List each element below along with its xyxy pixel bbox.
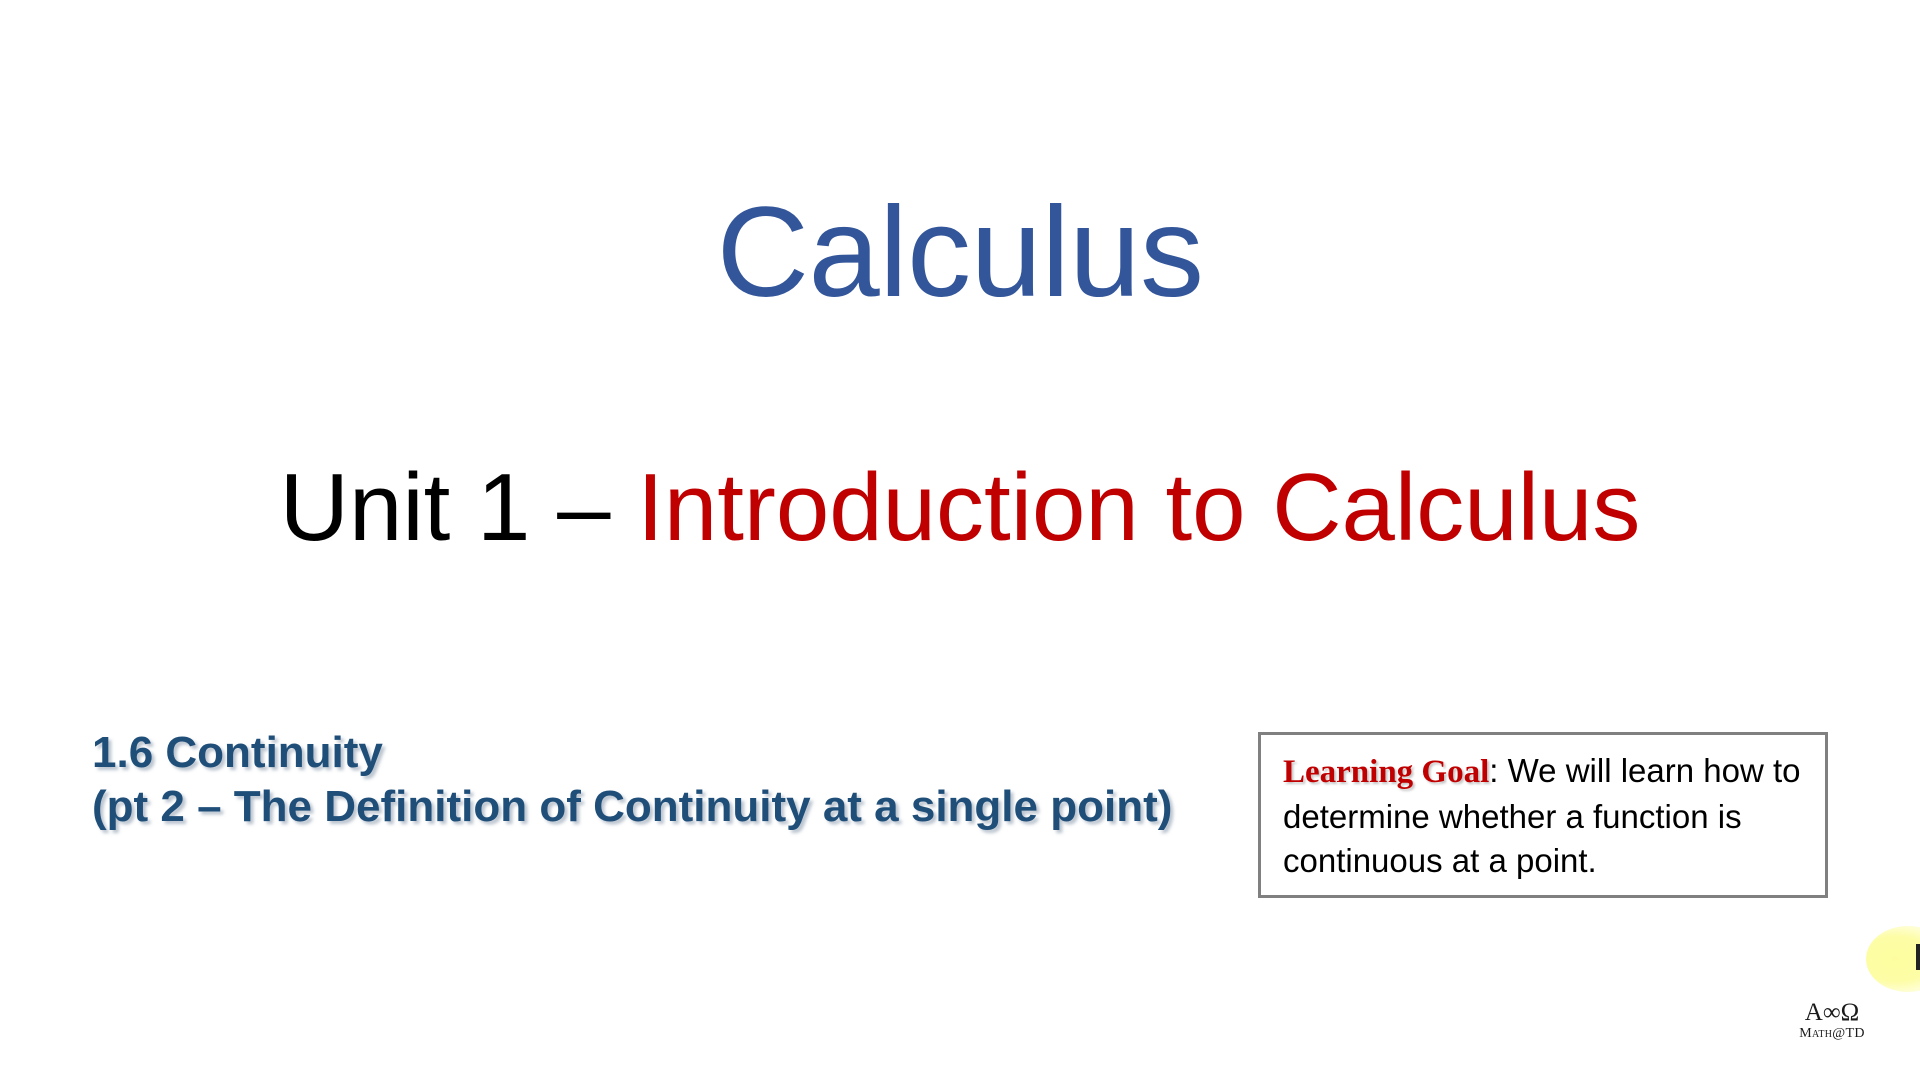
learning-goal-callout: Learning Goal: We will learn how to dete… [1258, 732, 1828, 898]
slide-subtitle: Unit 1 – Introduction to Calculus [0, 458, 1920, 559]
learning-goal-label: Learning Goal [1283, 754, 1489, 790]
brand-logo-symbols: A∞Ω [1784, 1000, 1880, 1025]
subtitle-unit-label: Unit 1 – [280, 454, 638, 561]
highlight-mark-glyph-icon [1916, 944, 1920, 970]
slide-canvas: Calculus Unit 1 – Introduction to Calcul… [0, 0, 1920, 1080]
page-title: Calculus [0, 186, 1920, 320]
section-heading-line-1: 1.6 Continuity [92, 726, 1182, 780]
brand-logo-name: Math@TD [1784, 1026, 1880, 1042]
subtitle-topic-label: Introduction to Calculus [637, 454, 1640, 561]
brand-logo: A∞Ω Math@TD [1784, 1000, 1880, 1042]
learning-goal-separator: : [1489, 752, 1507, 789]
learning-goal-text: Learning Goal: We will learn how to dete… [1283, 749, 1807, 883]
section-heading-line-2: (pt 2 – The Definition of Continuity at … [92, 780, 1182, 834]
yellow-highlight-circle-icon [1866, 926, 1920, 992]
section-heading: 1.6 Continuity (pt 2 – The Definition of… [92, 726, 1182, 833]
